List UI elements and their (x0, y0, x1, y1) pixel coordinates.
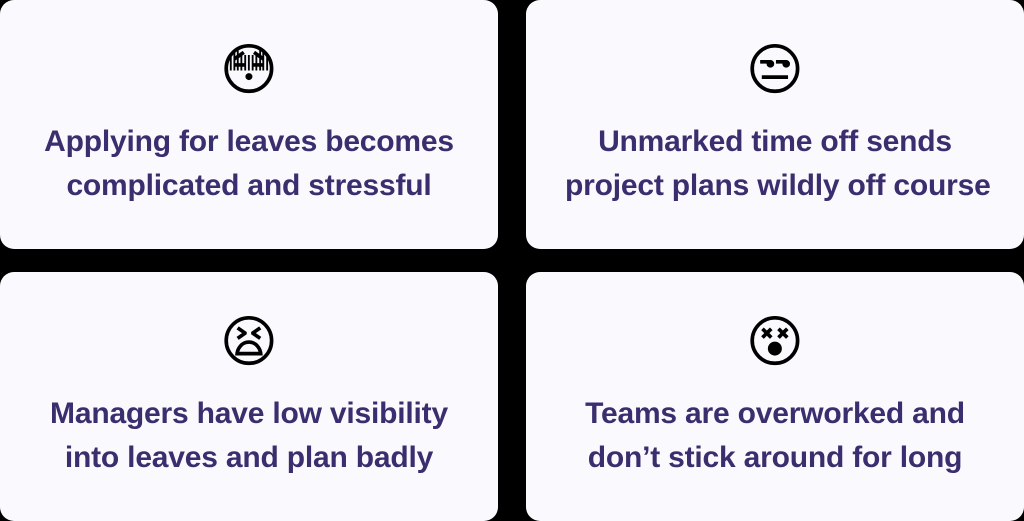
pain-point-card-1-title-line-1: Applying for leaves becomes (44, 120, 454, 164)
pain-point-card-2[interactable]: 😒 Unmarked time off sends project plans … (526, 0, 1024, 249)
pain-point-card-1-title: Applying for leaves becomes complicated … (44, 120, 454, 208)
pain-point-card-1[interactable]: 😳 Applying for leaves becomes complicate… (0, 0, 498, 249)
pain-point-card-4-title-line-1: Teams are overworked and (585, 392, 965, 436)
pain-point-card-2-title-line-2: project plans wildly off course (565, 164, 985, 208)
pain-point-card-1-title-line-2: complicated and stressful (44, 164, 454, 208)
dizzy-face-emoji: 😵 (746, 310, 804, 376)
pain-point-card-4-title: Teams are overworked and don’t stick aro… (585, 392, 965, 480)
pain-point-card-3[interactable]: 😫 Managers have low visibility into leav… (0, 272, 498, 521)
flushed-face-emoji: 😳 (220, 38, 278, 104)
pain-point-card-2-title-line-1: Unmarked time off sends (565, 120, 985, 164)
pain-point-card-2-title: Unmarked time off sends project plans wi… (565, 120, 985, 208)
tired-face-emoji: 😫 (220, 310, 278, 376)
pain-point-card-4[interactable]: 😵 Teams are overworked and don’t stick a… (526, 272, 1024, 521)
pain-point-card-3-title-line-2: into leaves and plan badly (50, 436, 448, 480)
unamused-face-emoji: 😒 (746, 38, 804, 104)
pain-point-card-4-title-line-2: don’t stick around for long (585, 436, 965, 480)
pain-point-card-grid: 😳 Applying for leaves becomes complicate… (0, 0, 1024, 521)
pain-point-card-3-title-line-1: Managers have low visibility (50, 392, 448, 436)
pain-point-card-3-title: Managers have low visibility into leaves… (50, 392, 448, 480)
